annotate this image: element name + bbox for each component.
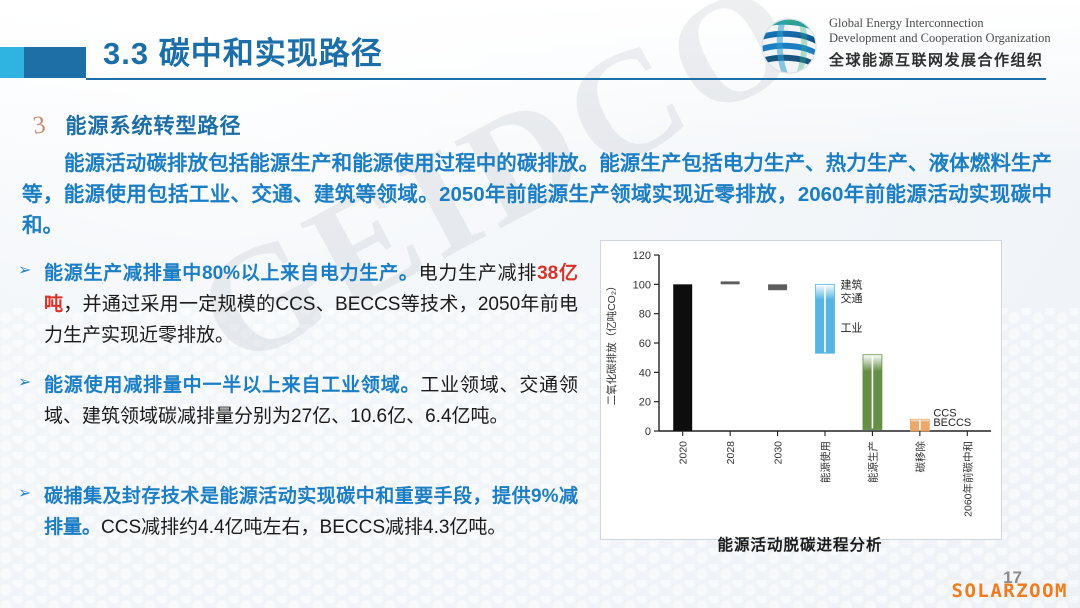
brandmark-watermark: SOLARZOOM xyxy=(952,580,1068,602)
bullet-3-rest-a: CCS减排约4.4亿吨左右，BECCS减排4.3亿吨。 xyxy=(101,517,506,538)
svg-text:能源使用: 能源使用 xyxy=(819,441,832,483)
bullet-item-3: ➢ 碳捕集及封存技术是能源活动实现碳中和重要手段，提供9%减排量。CCS减排约4… xyxy=(18,481,578,543)
bullet-arrow-icon: ➢ xyxy=(18,260,31,280)
logo-en-line1: Global Energy Interconnection xyxy=(829,16,1051,31)
bullet-2-highlight: 能源使用减排量中一半以上来自工业领域。 xyxy=(44,375,420,396)
svg-text:碳移除: 碳移除 xyxy=(914,441,927,473)
decarbonization-waterfall-chart: 020406080100120二氧化碳排放（亿吨CO₂）202020282030… xyxy=(601,241,1001,539)
bullet-text-3: 碳捕集及封存技术是能源活动实现碳中和重要手段，提供9%减排量。CCS减排约4.4… xyxy=(44,481,578,543)
svg-text:2060年前碳中和: 2060年前碳中和 xyxy=(961,441,974,517)
svg-text:建筑: 建筑 xyxy=(840,278,862,292)
logo-text-block: Global Energy Interconnection Developmen… xyxy=(829,16,1051,70)
bullet-arrow-icon: ➢ xyxy=(18,372,31,392)
svg-text:2020: 2020 xyxy=(678,441,690,465)
header-accent-square-dark xyxy=(24,47,86,78)
chart-caption: 能源活动脱碳进程分析 xyxy=(600,533,1000,555)
intro-paragraph: 能源活动碳排放包括能源生产和能源使用过程中的碳排放。能源生产包括电力生产、热力生… xyxy=(22,148,1052,241)
bullet-item-1: ➢ 能源生产减排量中80%以上来自电力生产。电力生产减排38亿吨，并通过采用一定… xyxy=(18,258,578,351)
chart-panel: 020406080100120二氧化碳排放（亿吨CO₂）202020282030… xyxy=(600,240,1002,540)
svg-text:工业: 工业 xyxy=(840,321,862,334)
svg-text:100: 100 xyxy=(633,279,651,291)
svg-text:交通: 交通 xyxy=(840,291,862,305)
bullet-text-1: 能源生产减排量中80%以上来自电力生产。电力生产减排38亿吨，并通过采用一定规模… xyxy=(44,258,578,351)
bullet-1-highlight: 能源生产减排量中80%以上来自电力生产。 xyxy=(44,263,419,284)
bullet-1-rest-b: ，并通过采用一定规模的CCS、BECCS等技术，2050年前电力生产实现近零排放… xyxy=(44,294,578,346)
section-heading: 3 能源系统转型路径 xyxy=(33,110,242,140)
logo-cn-name: 全球能源互联网发展合作组织 xyxy=(829,49,1051,70)
bullet-text-2: 能源使用减排量中一半以上来自工业领域。工业领域、交通领域、建筑领域碳减排量分别为… xyxy=(44,370,578,432)
bullet-arrow-icon: ➢ xyxy=(18,483,31,503)
svg-text:2028: 2028 xyxy=(725,441,737,465)
svg-text:80: 80 xyxy=(639,309,651,321)
svg-text:60: 60 xyxy=(639,338,651,350)
page-title: 3.3 碳中和实现路径 xyxy=(103,28,383,73)
globe-icon xyxy=(757,14,821,78)
svg-text:BECCS: BECCS xyxy=(933,417,971,429)
logo-en-line2: Development and Cooperation Organization xyxy=(829,31,1051,46)
organization-logo: Global Energy Interconnection Developmen… xyxy=(757,10,1075,82)
bullet-item-2: ➢ 能源使用减排量中一半以上来自工业领域。工业领域、交通领域、建筑领域碳减排量分… xyxy=(18,370,578,432)
header-accent-square-light xyxy=(0,47,26,78)
section-title: 能源系统转型路径 xyxy=(66,110,242,140)
svg-text:120: 120 xyxy=(633,250,651,262)
svg-text:2030: 2030 xyxy=(773,441,785,465)
svg-text:0: 0 xyxy=(645,426,651,438)
section-marker-icon: 3 xyxy=(31,111,47,140)
svg-text:能源生产: 能源生产 xyxy=(866,441,879,483)
svg-text:20: 20 xyxy=(639,397,651,409)
slide-root: GEIDCO 3.3 碳中和实现路径 xyxy=(0,0,1080,608)
bullet-1-rest-a: 电力生产减排 xyxy=(419,263,538,284)
svg-text:二氧化碳排放（亿吨CO₂）: 二氧化碳排放（亿吨CO₂） xyxy=(605,281,618,406)
svg-text:40: 40 xyxy=(639,367,651,379)
slide-header: 3.3 碳中和实现路径 xyxy=(0,0,1080,92)
